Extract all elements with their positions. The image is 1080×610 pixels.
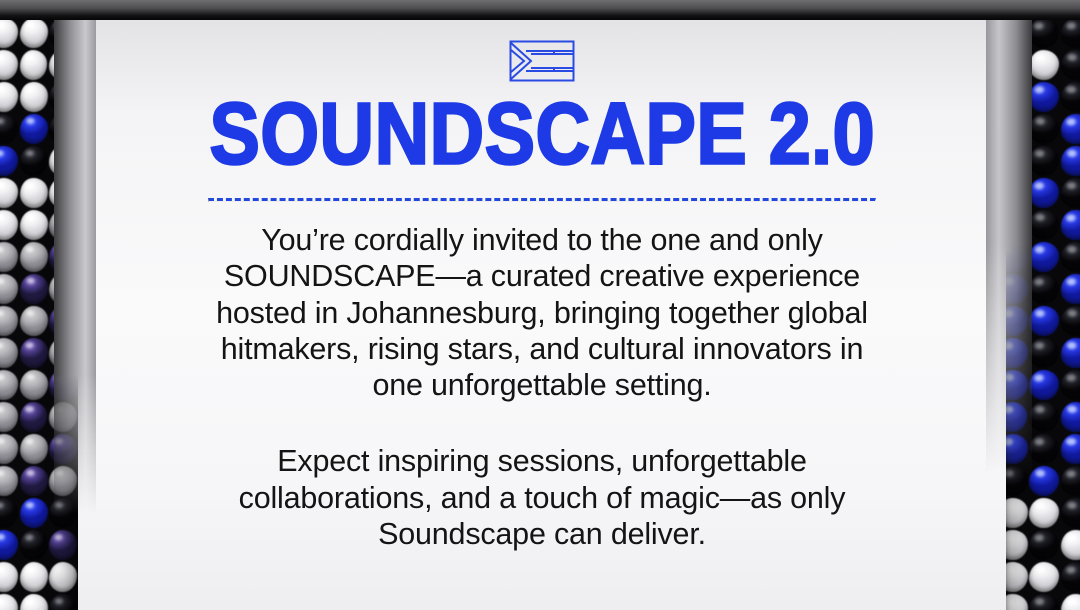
bead [0,114,18,144]
bead [1061,82,1080,112]
bead [20,50,48,80]
bead [0,370,18,401]
top-shadow-band [0,0,1080,20]
bead [0,273,18,304]
bead [1028,401,1059,432]
bead [1028,273,1060,305]
bead [0,562,18,592]
bead [1060,593,1080,610]
bead [18,17,48,49]
bead [1060,17,1080,49]
bead [48,82,77,113]
invitation-stage: SOUNDSCAPE 2.0 You’re cordially invited … [0,0,1080,610]
invitation-paragraph-2: Expect inspiring sessions, unforgettable… [192,443,892,552]
bead [1028,113,1060,145]
bead [0,18,18,49]
bead [0,402,18,433]
bead [48,529,77,560]
bead [1028,369,1060,401]
bead [48,402,77,433]
bead [48,434,77,465]
bead [1060,145,1080,177]
bead [0,529,19,561]
dashed-divider [208,198,876,202]
bead [18,273,48,305]
bead [1060,241,1080,272]
bead [0,145,18,176]
bead [18,177,48,209]
bead [1060,178,1080,209]
bead [0,81,19,113]
bead [0,433,19,465]
bead [1059,305,1080,337]
bead [49,338,77,368]
bead [19,594,48,610]
bead [49,498,77,528]
bead [19,337,48,368]
bead [48,113,78,145]
bead [49,594,77,610]
south-african-flag-icon [509,40,575,82]
card-content: SOUNDSCAPE 2.0 You’re cordially invited … [78,18,1006,610]
bead [0,50,18,81]
bead [1060,497,1080,529]
bead [48,177,77,208]
bead [1061,434,1080,464]
bead [1028,81,1059,112]
bead [1060,273,1080,304]
bead [1028,17,1060,49]
bead [18,433,48,465]
bead [1059,401,1080,433]
bead [1059,113,1080,145]
bead [48,369,78,401]
bead [1028,465,1060,497]
bead [1059,209,1080,241]
bead [48,561,78,593]
bead [19,210,48,241]
bead [1060,530,1080,561]
bead [48,17,78,49]
bead [48,305,77,336]
bead [49,146,77,176]
bead [19,306,47,336]
bead [18,81,48,113]
bead [48,273,78,305]
bead [19,242,48,273]
bead [0,306,18,336]
bead [1028,529,1059,561]
bead [1028,561,1060,593]
bead [1028,305,1059,337]
bead [49,242,77,272]
bead [1060,369,1080,401]
bead [0,593,19,610]
bead [1029,338,1059,369]
bead [19,562,48,593]
bead [1060,338,1080,369]
bead [48,465,78,497]
bead [19,498,47,528]
bead [0,466,18,496]
bead [20,402,48,432]
bead [19,113,48,144]
bead [1059,49,1080,81]
bead [1059,465,1080,497]
bead [1028,177,1059,209]
bead [1029,146,1059,177]
bead [1028,209,1060,241]
invitation-card: SOUNDSCAPE 2.0 You’re cordially invited … [78,18,1006,610]
bead [1029,242,1059,272]
page-title: SOUNDSCAPE 2.0 [209,94,875,174]
bead [18,369,48,401]
bead [0,210,18,240]
bead [0,241,19,273]
bead [48,209,78,241]
bead [1059,561,1080,593]
bead [19,465,48,496]
bead [1029,498,1059,529]
bead [1029,594,1059,610]
bead [48,50,77,81]
invitation-paragraph-1: You’re cordially invited to the one and … [192,222,892,403]
bead [1028,433,1059,464]
bead [0,177,19,209]
bead [19,146,47,176]
bead [0,337,19,369]
bead [1028,49,1059,80]
bead [0,497,18,528]
bead [18,529,48,561]
